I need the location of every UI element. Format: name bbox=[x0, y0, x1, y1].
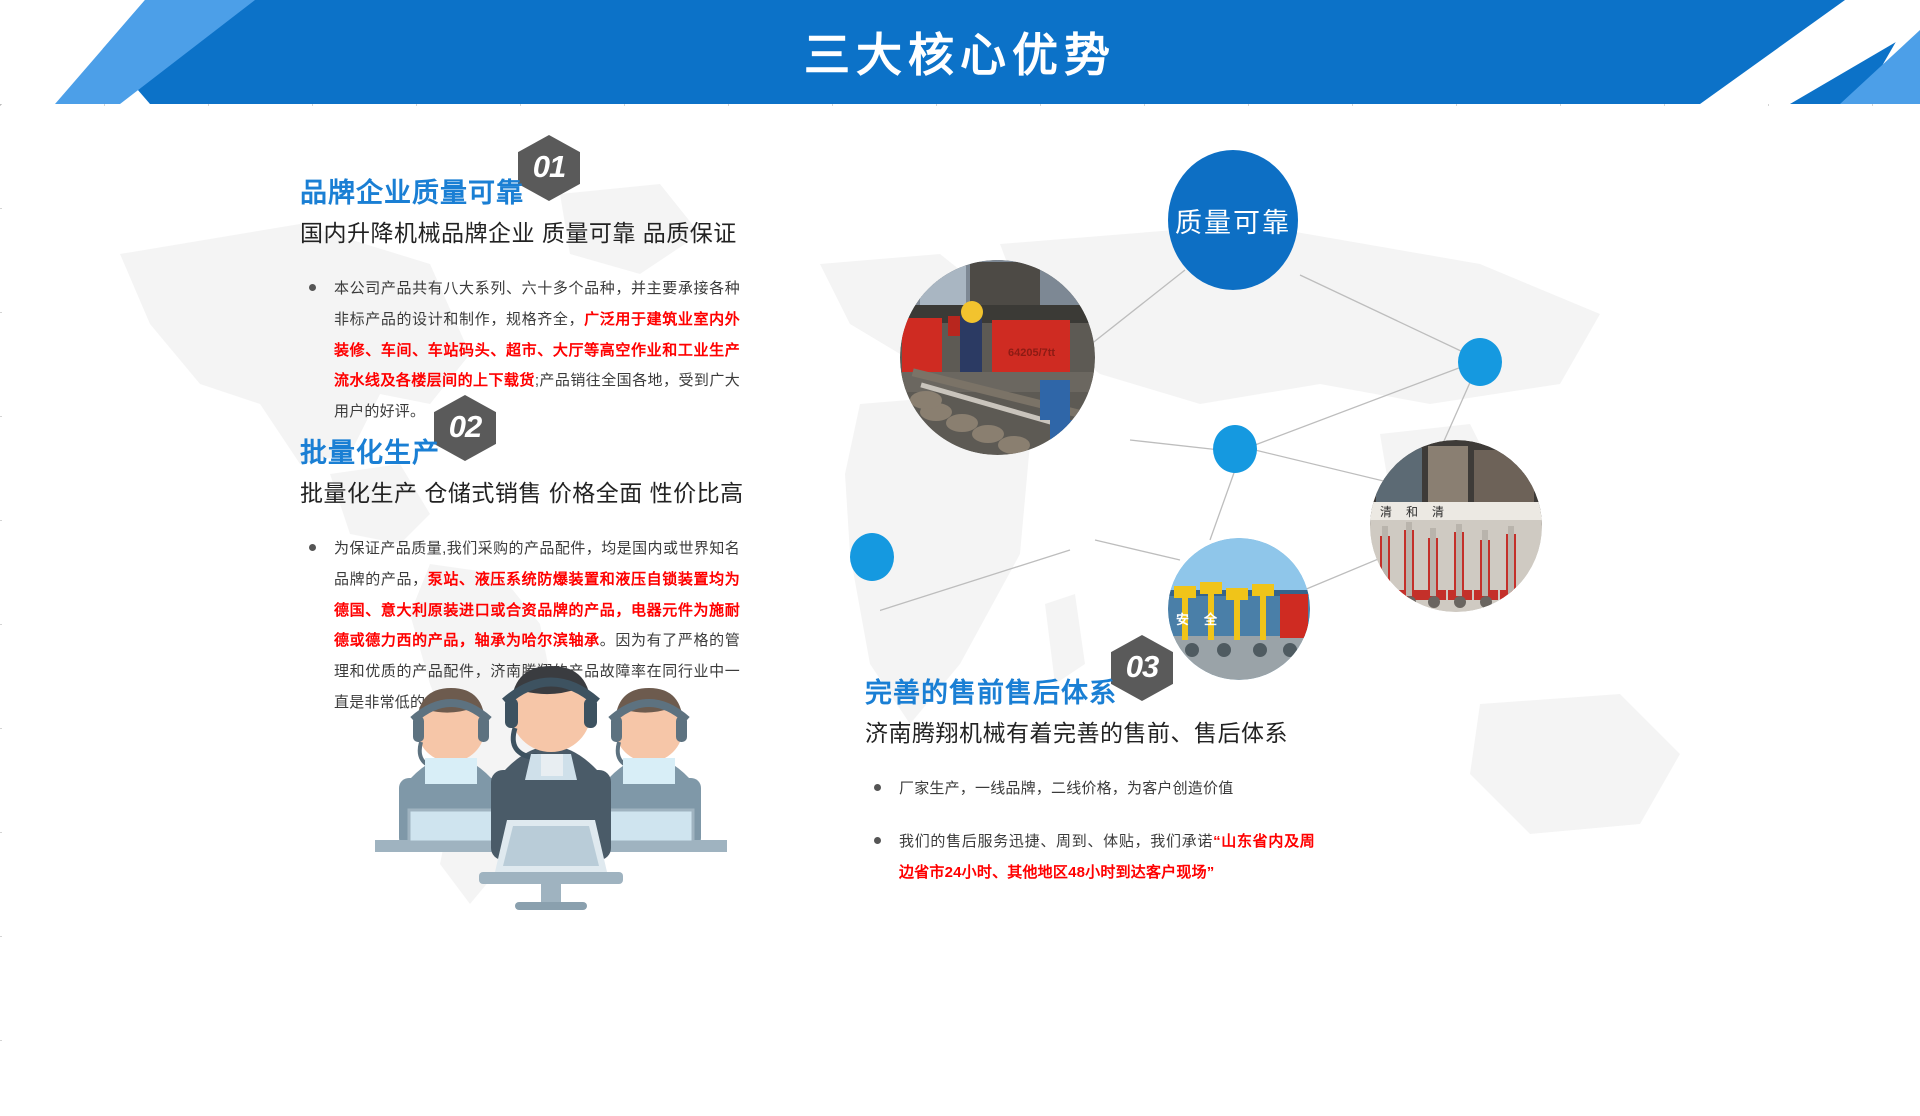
feature-02-heading: 批量化生产 02 bbox=[300, 395, 740, 467]
svg-text:全: 全 bbox=[1203, 612, 1218, 627]
call-center-illustration bbox=[355, 650, 745, 910]
hub-node-quality: 质量可靠 bbox=[1168, 150, 1298, 290]
feature-02-number: 02 bbox=[449, 409, 481, 445]
svg-text:64205/7tt: 64205/7tt bbox=[1008, 347, 1055, 359]
bullet-dot-icon bbox=[309, 284, 316, 291]
bullet-dot-icon bbox=[309, 544, 316, 551]
page-title: 三大核心优势 bbox=[0, 0, 1920, 104]
feature-01-title: 品牌企业质量可靠 bbox=[300, 180, 524, 207]
feature-02-number-badge: 02 bbox=[434, 395, 496, 461]
feature-01-subtitle: 国内升降机械品牌企业 质量可靠 品质保证 bbox=[300, 214, 740, 248]
agent-center bbox=[479, 666, 623, 910]
bullet-dot-icon bbox=[874, 837, 881, 844]
bullet-item: 厂家生产，一线品牌，二线价格，为客户创造价值 bbox=[865, 774, 1315, 805]
bullet-text: 厂家生产，一线品牌，二线价格，为客户创造价值 bbox=[899, 774, 1315, 805]
svg-text:清: 清 bbox=[1432, 505, 1444, 519]
photo-node-lifting-platforms-yard: 清和清 bbox=[1370, 440, 1542, 612]
hub-label: 质量可靠 bbox=[1175, 201, 1291, 240]
feature-03-subtitle: 济南腾翔机械有着完善的售前、售后体系 bbox=[865, 714, 1315, 748]
feature-01-number-badge: 01 bbox=[518, 135, 580, 201]
network-dot-left bbox=[850, 533, 894, 581]
bullet-plain-text: 我们的售后服务迅捷、周到、体贴，我们承诺 bbox=[899, 833, 1213, 850]
feature-01-heading: 品牌企业质量可靠 01 bbox=[300, 135, 740, 207]
feature-01-number: 01 bbox=[533, 149, 565, 185]
feature-03-number: 03 bbox=[1126, 649, 1158, 685]
feature-02-title: 批量化生产 bbox=[300, 440, 440, 467]
feature-02-subtitle: 批量化生产 仓储式销售 价格全面 性价比高 bbox=[300, 474, 740, 508]
photo-node-aerial-work-platforms: 安全 bbox=[1168, 538, 1310, 680]
svg-text:清: 清 bbox=[1380, 505, 1392, 519]
bullet-plain-text: 厂家生产，一线品牌，二线价格，为客户创造价值 bbox=[899, 780, 1233, 797]
network-dot-center bbox=[1213, 425, 1257, 473]
feature-03-title: 完善的售前售后体系 bbox=[865, 680, 1117, 707]
bullet-dot-icon bbox=[874, 784, 881, 791]
bullet-item: 我们的售后服务迅捷、周到、体贴，我们承诺“山东省内及周边省市24小时、其他地区4… bbox=[865, 827, 1315, 889]
feature-03-bullet-list: 厂家生产，一线品牌，二线价格，为客户创造价值我们的售后服务迅捷、周到、体贴，我们… bbox=[865, 774, 1315, 888]
bullet-text: 我们的售后服务迅捷、周到、体贴，我们承诺“山东省内及周边省市24小时、其他地区4… bbox=[899, 827, 1315, 889]
photo-node-factory-cutting-machine: 64205/7tt bbox=[900, 260, 1095, 455]
network-dot-top-right bbox=[1458, 338, 1502, 386]
svg-text:安: 安 bbox=[1176, 612, 1189, 627]
page-header-banner: 三大核心优势 bbox=[0, 0, 1920, 104]
svg-text:和: 和 bbox=[1406, 505, 1418, 519]
network-diagram: 质量可靠 64205/7tt bbox=[880, 120, 1600, 680]
